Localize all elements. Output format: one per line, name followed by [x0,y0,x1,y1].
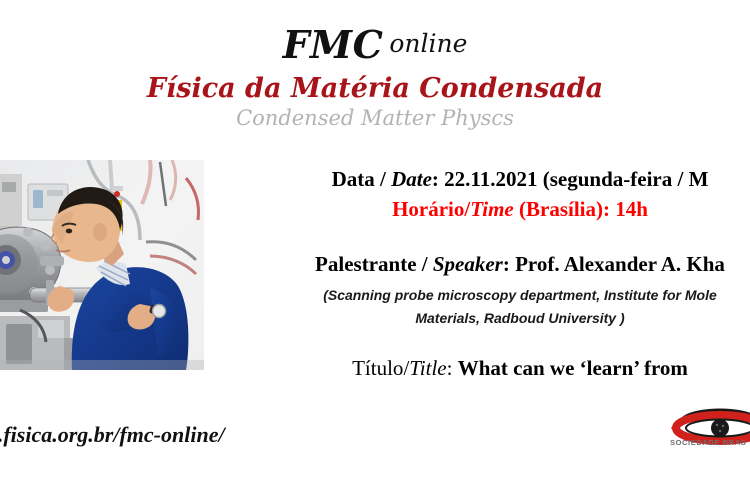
time-line: Horário/Time (Brasília): 14h [215,196,750,222]
date-label-separator: / [375,167,391,191]
talk-colon: : [447,356,458,380]
date-colon: : [432,167,444,191]
brand-suffix: online [389,29,467,58]
date-label-en: Date [391,167,432,191]
brand-line: FMConline [0,26,750,64]
sociedade-brasileira-de-fisica-logo: SOCIEDADE BRAS [668,404,750,452]
poster-header: FMConline Física da Matéria Condensada C… [0,26,750,130]
time-value: (Brasília): 14h [514,197,648,221]
researcher-at-lab-instrument-illustration [0,160,204,370]
time-label-pt: Horário [392,197,464,221]
speaker-line: Palestrante / Speaker: Prof. Alexander A… [215,251,750,277]
series-title-pt: Física da Matéria Condensada [0,74,750,104]
poster-details: Data / Date: 22.11.2021 (segunda-feira /… [215,166,750,381]
speaker-name: Prof. Alexander A. Kha [515,252,725,276]
series-title-en: Condensed Matter Physcs [0,107,750,130]
talk-title-line: Título/Title: What can we ‘learn’ from [215,355,750,381]
date-label-pt: Data [332,167,375,191]
speaker-affiliation-line-2: Materials, Radboud University ) [215,308,750,329]
brand-acronym: FMC [283,22,384,67]
speaker-colon: : [503,252,515,276]
seminar-announcement-poster: FMConline Física da Matéria Condensada C… [0,0,750,500]
speaker-affiliation-line-1: (Scanning probe microscopy department, I… [215,285,750,306]
talk-label-pt: Título [352,356,403,380]
date-line: Data / Date: 22.11.2021 (segunda-feira /… [215,166,750,192]
speaker-label-separator: / [417,252,433,276]
website-url[interactable]: w.fisica.org.br/fmc-online/ [0,422,225,448]
date-value: 22.11.2021 (segunda-feira / M [444,167,708,191]
talk-label-en: Title [409,356,446,380]
researcher-photo [0,160,204,370]
talk-title-value: What can we ‘learn’ from [458,356,688,380]
speaker-label-en: Speaker [433,252,503,276]
time-label-en: Time [470,197,514,221]
logo-caption: SOCIEDADE BRAS [670,438,746,447]
speaker-label-pt: Palestrante [315,252,416,276]
